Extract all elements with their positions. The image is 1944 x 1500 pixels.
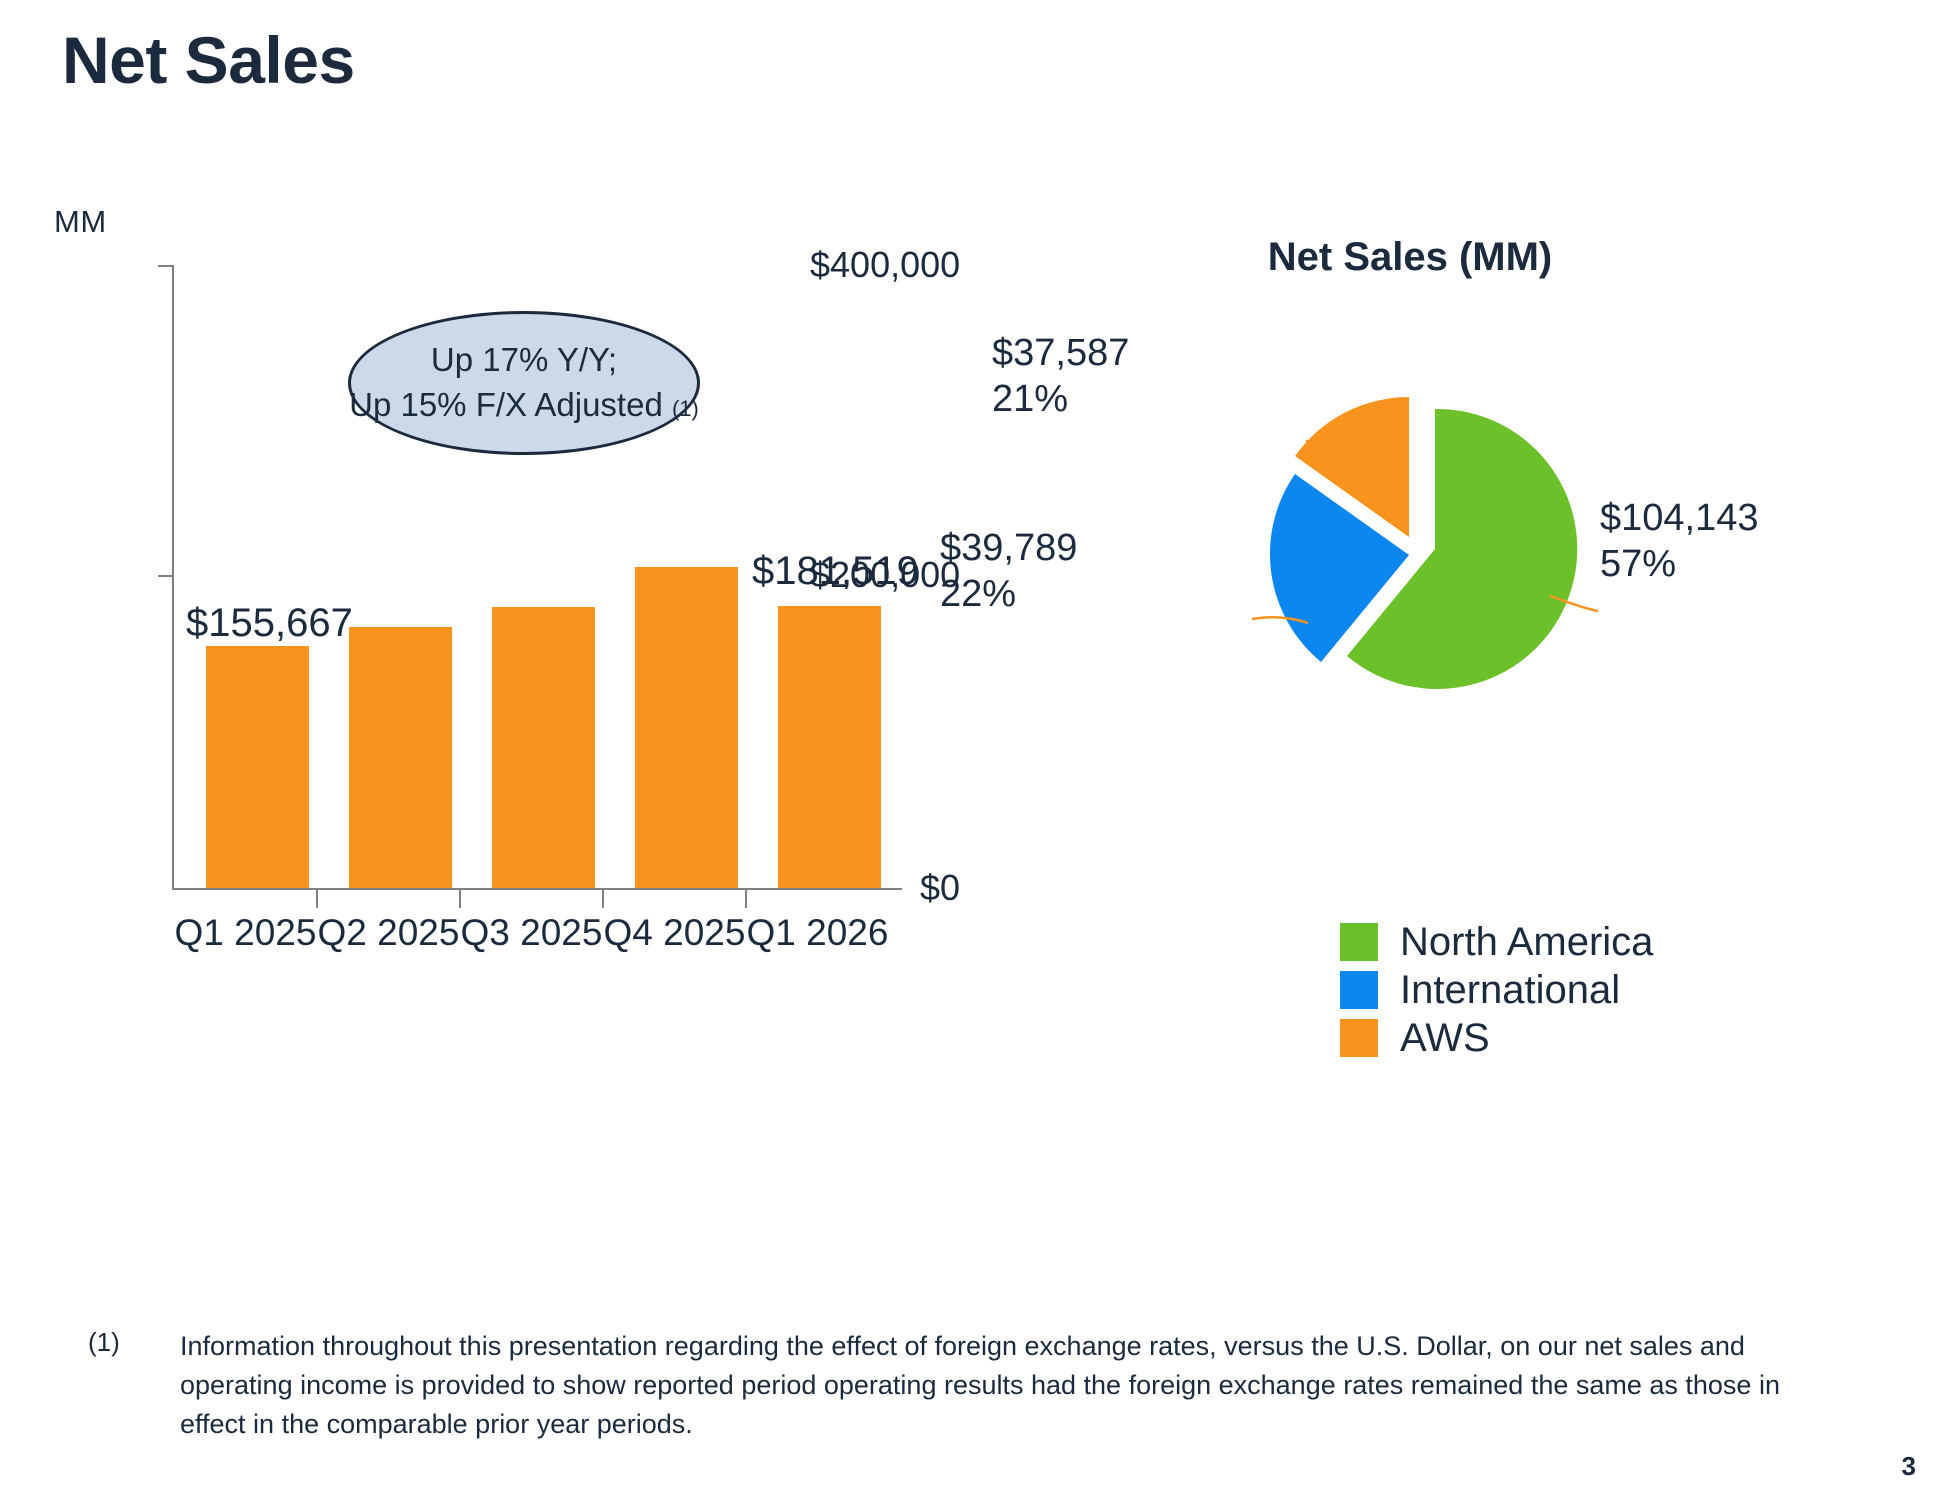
callout-footnote-ref: (1) [672,396,699,421]
pie-chart-legend: North America International AWS [1340,918,1653,1062]
legend-label-international: International [1400,968,1620,1013]
bar-q4-2025 [635,567,738,888]
callout-line-fx: Up 15% F/X Adjusted (1) [349,383,699,428]
legend-item-aws: AWS [1340,1014,1653,1062]
pie-label-north-america-percent: 57% [1600,541,1759,587]
pie-chart-title: Net Sales (MM) [1130,235,1690,280]
y-axis-unit-label: MM [54,204,107,240]
page-title: Net Sales [62,22,355,98]
pie-label-aws-value: $37,587 [992,330,1129,376]
pie-label-international-percent: 22% [940,571,1077,617]
pie-label-north-america-value: $104,143 [1600,495,1759,541]
pie-label-aws: $37,587 21% [992,330,1129,423]
bar-chart: MM $400,000 $200,000 $0 Q1 2025 Q2 2025 … [0,196,960,956]
bar-q1-2026 [778,606,881,888]
x-tick-label-q3-2025: Q3 2025 [460,912,603,954]
bar-q1-2025 [206,646,309,888]
x-tick-label-q2-2025: Q2 2025 [317,912,460,954]
x-tick-label-q1-2026: Q1 2026 [746,912,889,954]
legend-swatch-international [1340,971,1378,1009]
pie-label-north-america: $104,143 57% [1600,495,1759,588]
page-number: 3 [1902,1451,1916,1482]
legend-item-north-america: North America [1340,918,1653,966]
footnote: (1) Information throughout this presenta… [88,1327,1808,1444]
bar-value-label-q1-2026: $181,519 [752,549,919,594]
slide-root: Net Sales MM $400,000 $200,000 $0 Q1 202… [0,0,1944,1500]
pie-label-international-value: $39,789 [940,525,1077,571]
footnote-text: Information throughout this presentation… [180,1327,1808,1444]
x-tick-mark-4 [745,890,747,908]
x-tick-mark-3 [602,890,604,908]
legend-swatch-aws [1340,1019,1378,1057]
legend-label-aws: AWS [1400,1016,1490,1061]
x-axis-line [172,888,902,890]
x-tick-label-q4-2025: Q4 2025 [603,912,746,954]
pie-chart: Net Sales (MM) $37,587 21% $39,789 22% $… [1130,225,1944,925]
x-tick-mark-1 [316,890,318,908]
y-tick-mark-400000 [158,265,173,267]
pie-label-international: $39,789 22% [940,525,1077,618]
callout-line-yy: Up 17% Y/Y; [431,338,617,383]
callout-fx-text: Up 15% F/X Adjusted [349,386,663,423]
pie-label-aws-percent: 21% [992,376,1129,422]
x-tick-label-q1-2025: Q1 2025 [174,912,317,954]
bar-q2-2025 [349,627,452,888]
legend-label-north-america: North America [1400,920,1653,965]
legend-swatch-north-america [1340,923,1378,961]
legend-item-international: International [1340,966,1653,1014]
footnote-marker: (1) [88,1327,180,1444]
x-tick-mark-2 [459,890,461,908]
growth-callout-bubble: Up 17% Y/Y; Up 15% F/X Adjusted (1) [348,311,700,455]
y-tick-mark-200000 [158,575,173,577]
bar-q3-2025 [492,607,595,888]
bar-value-label-q1-2025: $155,667 [186,601,353,646]
